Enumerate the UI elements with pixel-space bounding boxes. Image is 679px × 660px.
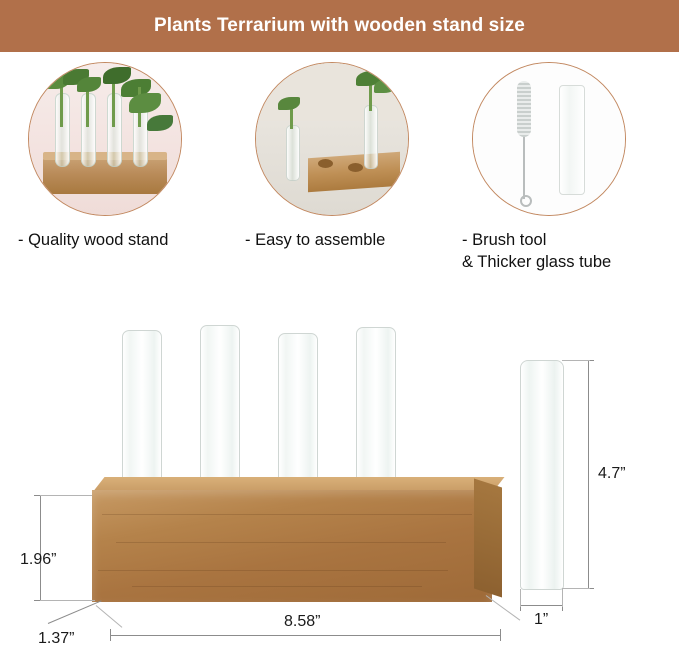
- feature-brush-and-tube: - Brush tool & Thicker glass tube: [462, 62, 652, 274]
- page-title: Plants Terrarium with wooden stand size: [154, 15, 525, 37]
- feature-caption: - Easy to assemble: [245, 230, 435, 252]
- product-dimension-diagram: 1.96” 1.37” 8.58” 4.7” 1”: [0, 305, 679, 660]
- feature-quality-wood-stand: - Quality wood stand: [18, 62, 208, 252]
- glass-tube-photo-item: [559, 85, 585, 195]
- easy-to-assemble-photo: [255, 62, 409, 216]
- brush-and-glass-tube-photo: [472, 62, 626, 216]
- header-banner: Plants Terrarium with wooden stand size: [0, 0, 679, 52]
- dimension-stand-depth: 1.37”: [38, 630, 74, 648]
- dim-line-length: [110, 635, 500, 636]
- quality-wood-stand-photo: [28, 62, 182, 216]
- wood-stand-right-face: [474, 478, 502, 597]
- feature-caption: - Brush tool & Thicker glass tube: [462, 230, 652, 274]
- dim-line-depth: [48, 600, 102, 624]
- dimension-stand-length: 8.58”: [278, 613, 326, 631]
- feature-easy-to-assemble: - Easy to assemble: [245, 62, 435, 252]
- dimension-tube-height: 4.7”: [596, 463, 628, 485]
- dimension-stand-height: 1.96”: [20, 551, 56, 569]
- dim-line-tube-height: [588, 360, 589, 588]
- dimension-tube-diameter: 1”: [534, 611, 548, 629]
- feature-row: - Quality wood stand - Easy to assemble: [0, 62, 679, 302]
- dim-line-tube-diameter: [520, 605, 562, 606]
- wood-stand-front-face: [92, 490, 492, 602]
- standalone-glass-tube: [520, 360, 564, 590]
- dim-line-height: [40, 495, 41, 600]
- feature-caption: - Quality wood stand: [18, 230, 208, 252]
- brush-head: [517, 81, 531, 137]
